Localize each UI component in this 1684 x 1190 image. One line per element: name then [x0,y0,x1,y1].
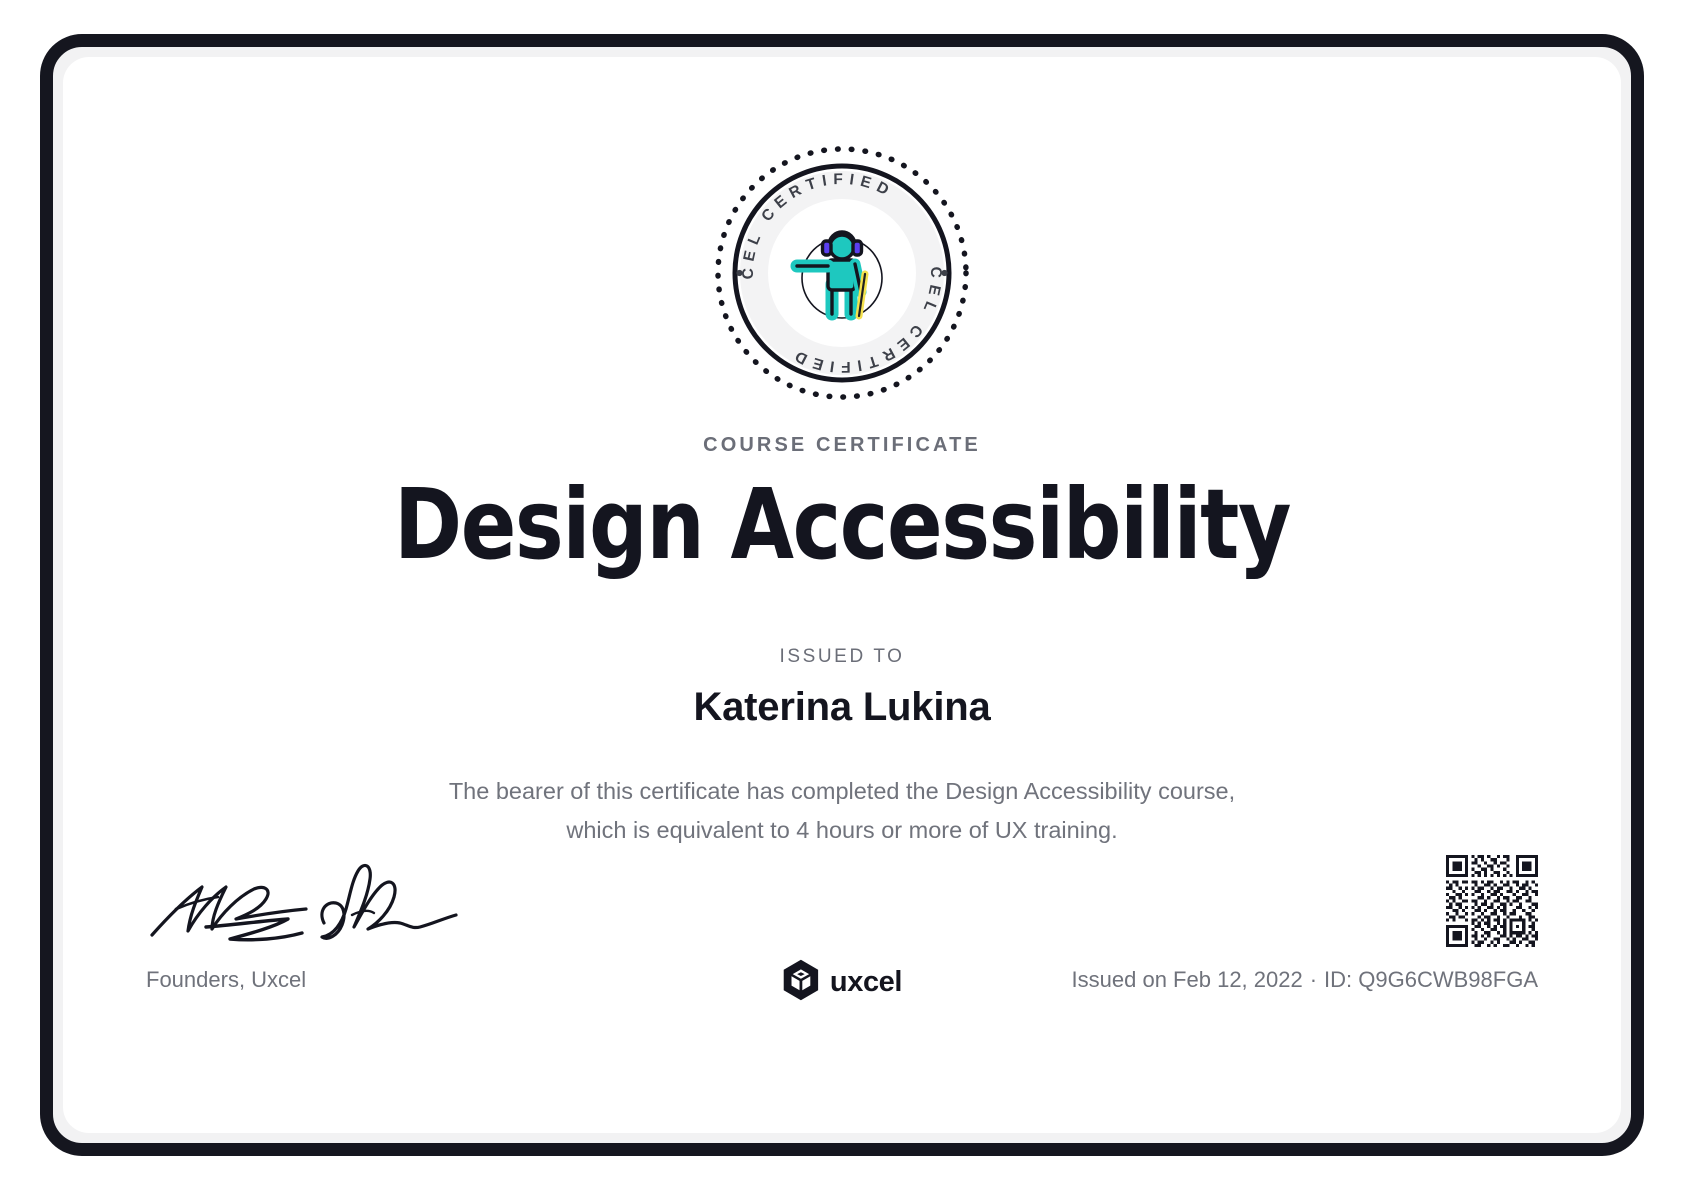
uxcel-brand-logo: uxcel [782,959,902,1006]
description-line-1: The bearer of this certificate has compl… [352,772,1332,811]
meta-separator: · [1303,967,1324,992]
certificate-frame: UXCEL CERTIFIED UXCEL CERTIFIED [40,34,1644,1156]
certificate-page: UXCEL CERTIFIED UXCEL CERTIFIED [0,0,1684,1190]
certificate-card: UXCEL CERTIFIED UXCEL CERTIFIED [63,57,1621,1133]
uxcel-wordmark: uxcel [830,968,902,997]
certificate-qr-code[interactable] [1446,855,1538,947]
issued-to-label: ISSUED TO [63,646,1621,668]
page-title: Design Accessibility [110,471,1575,580]
certificate-description: The bearer of this certificate has compl… [352,772,1332,851]
issue-metadata: Issued on Feb 12, 2022·ID: Q9G6CWB98FGA [1072,967,1538,993]
founders-label: Founders, Uxcel [146,967,306,993]
uxcel-certified-badge: UXCEL CERTIFIED UXCEL CERTIFIED [711,142,973,404]
uxcel-hexagon-cube-logo-icon [782,959,820,1006]
description-line-2: which is equivalent to 4 hours or more o… [352,811,1332,850]
certificate-id: ID: Q9G6CWB98FGA [1324,967,1538,992]
eyebrow-label: COURSE CERTIFICATE [63,434,1621,457]
issue-date: Issued on Feb 12, 2022 [1072,967,1303,992]
founders-signatures [146,857,466,945]
recipient-name: Katerina Lukina [63,685,1621,730]
